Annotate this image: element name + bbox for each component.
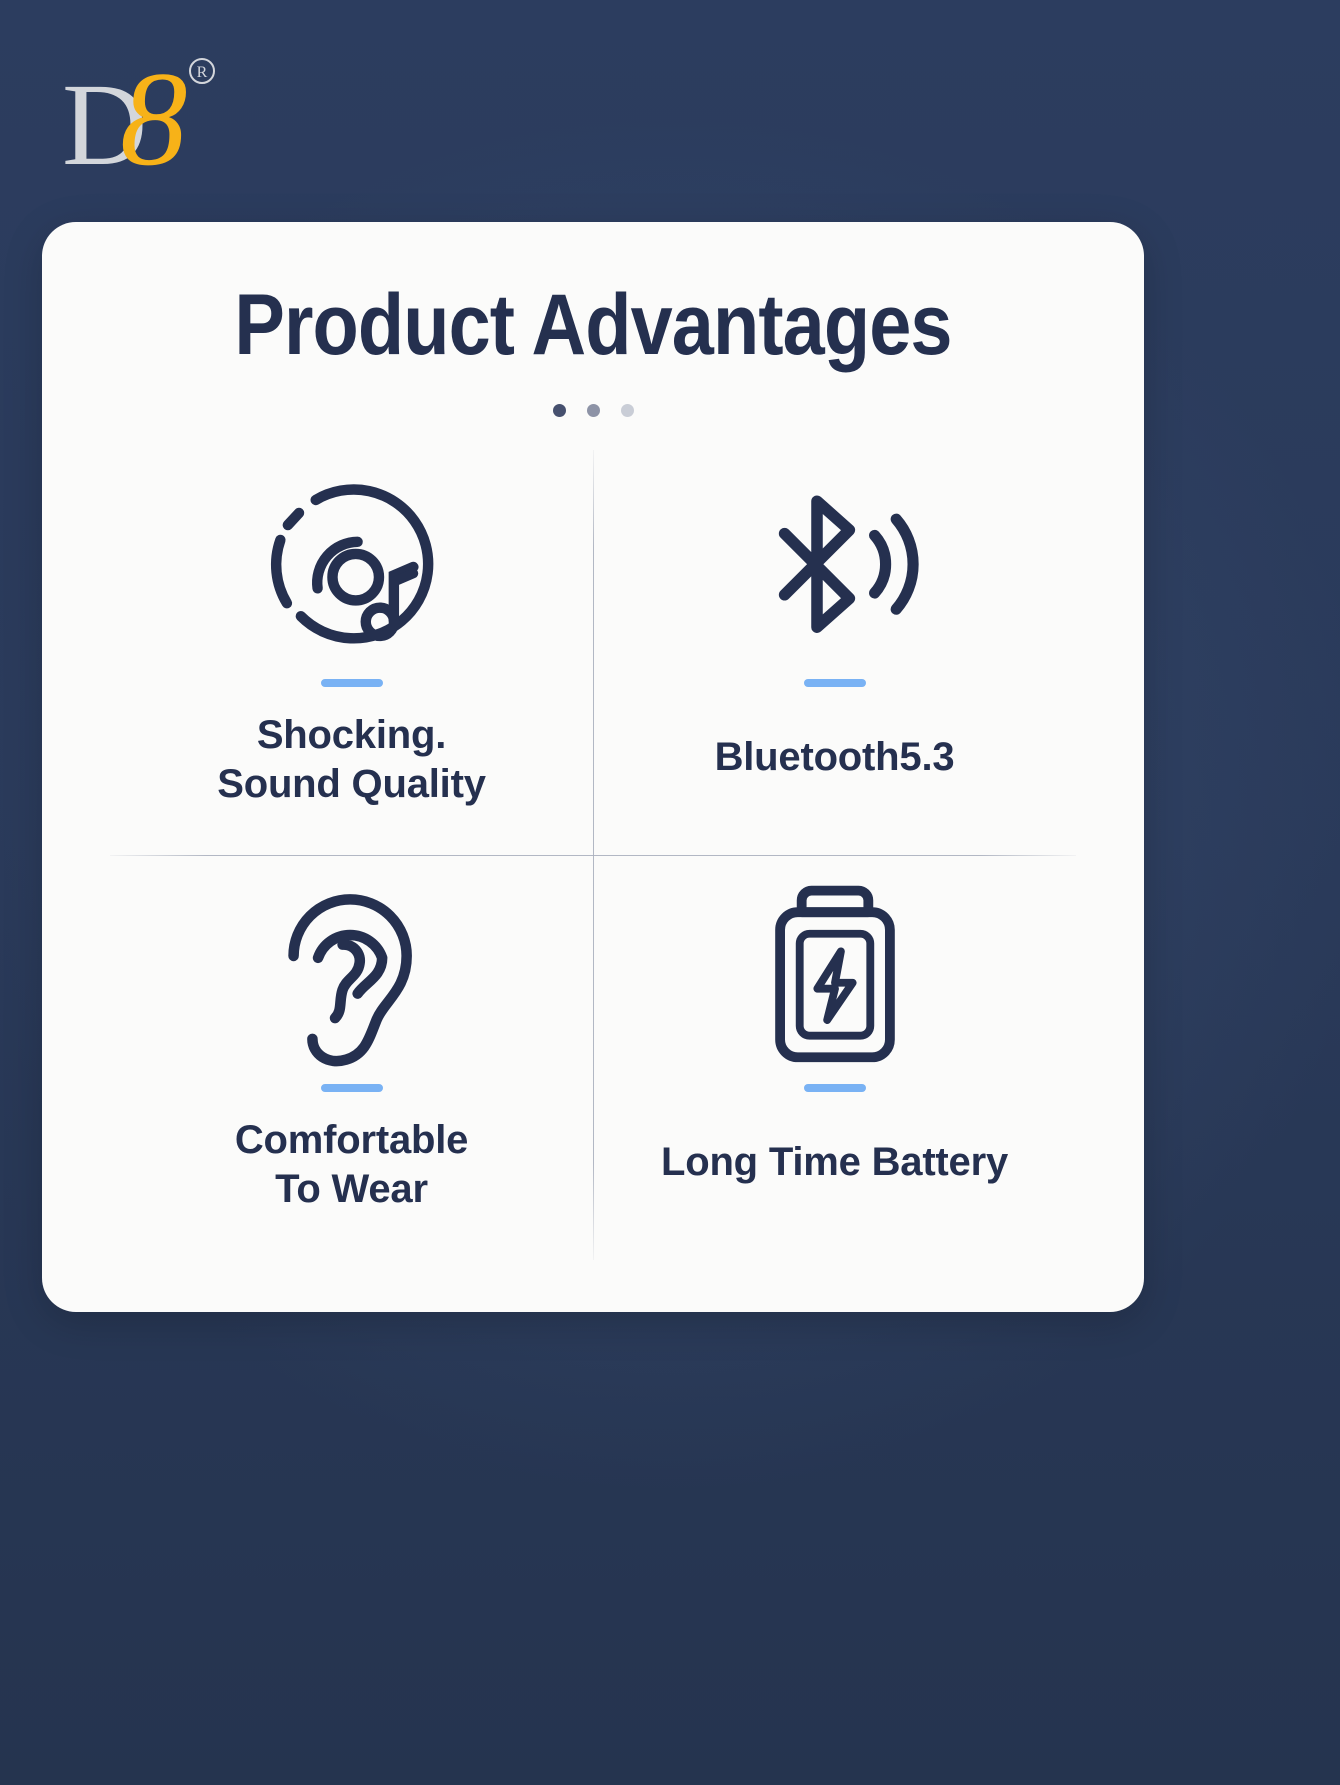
feature-cell-battery[interactable]: Long Time Battery bbox=[593, 855, 1076, 1260]
accent-dash bbox=[321, 1084, 383, 1092]
dot-active[interactable] bbox=[553, 404, 566, 417]
accent-dash bbox=[321, 679, 383, 687]
dot-medium[interactable] bbox=[587, 404, 600, 417]
feature-cell-bluetooth[interactable]: Bluetooth5.3 bbox=[593, 450, 1076, 855]
dot-light[interactable] bbox=[621, 404, 634, 417]
sound-wave-music-note-icon bbox=[259, 458, 445, 673]
trademark-icon: R bbox=[190, 59, 214, 83]
feature-label-battery: Long Time Battery bbox=[661, 1138, 1008, 1187]
product-advantages-card: Product Advantages bbox=[42, 222, 1144, 1312]
bluetooth-signal-icon bbox=[745, 458, 925, 673]
feature-label-comfort: Comfortable To Wear bbox=[235, 1116, 468, 1214]
accent-dash bbox=[804, 1084, 866, 1092]
feature-label-bluetooth: Bluetooth5.3 bbox=[715, 733, 955, 782]
battery-bolt-icon bbox=[760, 863, 910, 1078]
ear-icon bbox=[267, 863, 437, 1078]
svg-text:R: R bbox=[197, 64, 208, 81]
svg-text:8: 8 bbox=[120, 45, 188, 192]
feature-label-sound-quality: Shocking. Sound Quality bbox=[217, 711, 486, 809]
feature-cell-sound-quality[interactable]: Shocking. Sound Quality bbox=[110, 450, 593, 855]
page-title: Product Advantages bbox=[108, 280, 1078, 370]
carousel-dots[interactable] bbox=[42, 404, 1144, 417]
d8-brand-logo: D 8 R bbox=[58, 42, 278, 192]
features-grid: Shocking. Sound Quality Bluetooth5.3 bbox=[110, 450, 1076, 1260]
feature-cell-comfort[interactable]: Comfortable To Wear bbox=[110, 855, 593, 1260]
brand-logo: D 8 R bbox=[58, 42, 278, 192]
accent-dash bbox=[804, 679, 866, 687]
